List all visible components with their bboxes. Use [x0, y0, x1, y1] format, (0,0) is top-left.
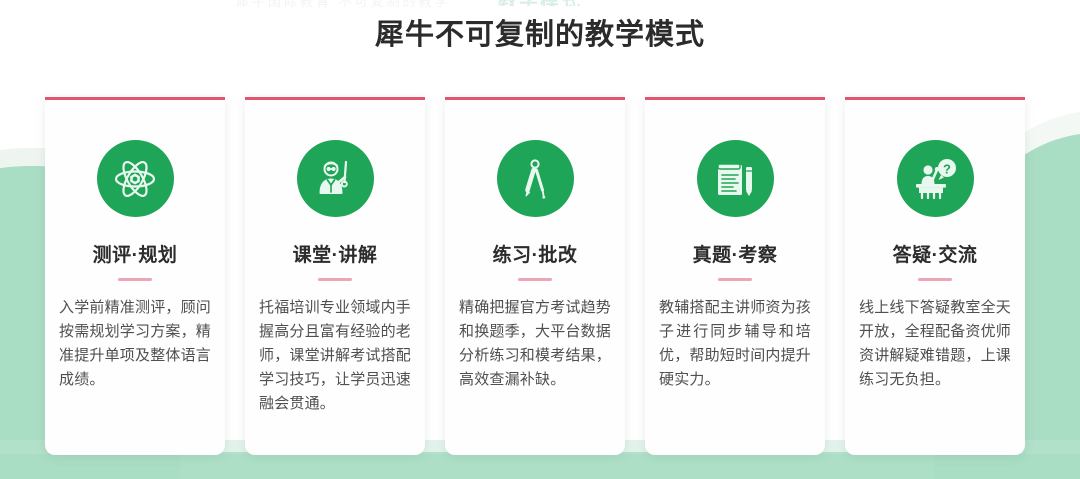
compass-divider-icon — [497, 140, 574, 217]
card-top-accent — [845, 97, 1025, 100]
card-heading: 课堂·讲解 — [293, 240, 378, 267]
card-body: 精确把握官方考试趋势和换题季，大平台数据分析练习和模考结果，高效查漏补缺。 — [445, 296, 625, 392]
feature-card[interactable]: 真题·考察 教辅搭配主讲师资为孩子进行同步辅导和培优，帮助短时间内提升硬实力。 — [645, 97, 825, 455]
card-heading: 真题·考察 — [693, 240, 778, 267]
student-question-icon: ? — [897, 140, 974, 217]
card-top-accent — [245, 97, 425, 100]
teacher-pointer-icon — [297, 140, 374, 217]
feature-card[interactable]: 课堂·讲解 托福培训专业领域内手握高分且富有经验的老师，课堂讲解考试搭配学习技巧… — [245, 97, 425, 455]
feature-card-list: 测评·规划 入学前精准测评，顾问按需规划学习方案，精准提升单项及整体语言成绩。 — [45, 97, 1035, 455]
card-top-accent — [45, 97, 225, 100]
atom-icon — [97, 140, 174, 217]
promo-banner: 犀牛国际教育 不可复制的教学 教学模式 犀牛不可复制的教学模式 测评·规划 入学… — [0, 0, 1080, 479]
card-divider — [518, 278, 552, 281]
svg-text:?: ? — [943, 161, 951, 176]
feature-card[interactable]: 练习·批改 精确把握官方考试趋势和换题季，大平台数据分析练习和模考结果，高效查漏… — [445, 97, 625, 455]
card-heading: 测评·规划 — [93, 240, 178, 267]
document-pencil-icon — [697, 140, 774, 217]
card-divider — [718, 278, 752, 281]
card-body: 教辅搭配主讲师资为孩子进行同步辅导和培优，帮助短时间内提升硬实力。 — [645, 296, 825, 392]
page-title: 犀牛不可复制的教学模式 — [0, 11, 1080, 53]
card-divider — [918, 278, 952, 281]
card-body: 托福培训专业领域内手握高分且富有经验的老师，课堂讲解考试搭配学习技巧，让学员迅速… — [245, 296, 425, 416]
card-heading: 练习·批改 — [493, 240, 578, 267]
card-divider — [118, 278, 152, 281]
card-top-accent — [445, 97, 625, 100]
card-body: 线上线下答疑教室全天开放，全程配备资优师资讲解疑难错题，上课练习无负担。 — [845, 296, 1025, 392]
feature-card[interactable]: ? — [845, 97, 1025, 455]
green-watermark-text: 教学模式 — [498, 0, 618, 6]
card-heading: 答疑·交流 — [893, 240, 978, 267]
card-divider — [318, 278, 352, 281]
card-top-accent — [645, 97, 825, 100]
card-body: 入学前精准测评，顾问按需规划学习方案，精准提升单项及整体语言成绩。 — [45, 296, 225, 392]
feature-card[interactable]: 测评·规划 入学前精准测评，顾问按需规划学习方案，精准提升单项及整体语言成绩。 — [45, 97, 225, 455]
